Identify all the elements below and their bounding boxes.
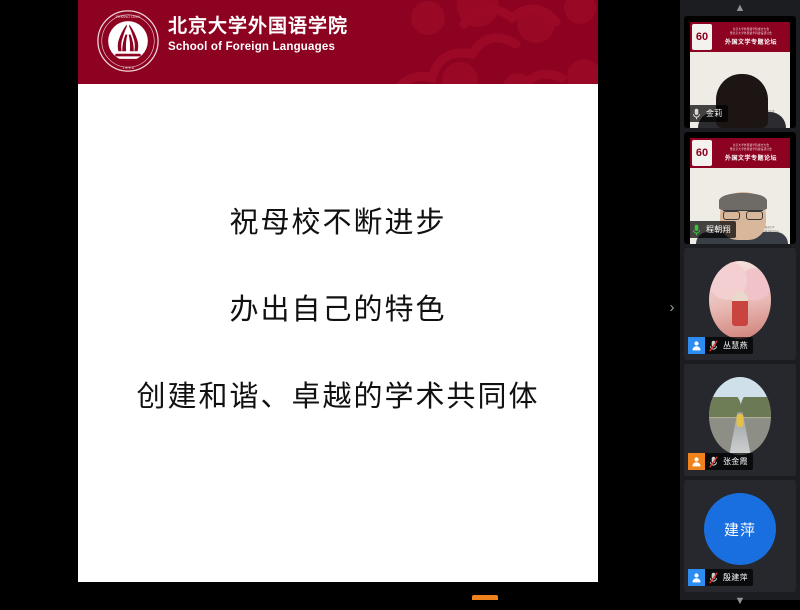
anniversary-logo-icon: 60 — [692, 140, 712, 166]
participant-tiles: 60 北京大学外国语学院成立大会 暨北京大学外国语学科建设研讨会 外国文学专题论… — [680, 16, 800, 592]
participant-name: 程朝翔 — [704, 224, 731, 235]
scroll-down-icon[interactable]: ▼ — [680, 592, 800, 610]
anniversary-logo-icon: 60 — [692, 24, 712, 50]
avatar — [709, 377, 771, 455]
slide-header-banner: PEKING UNIV 1 8 9 8 北京大学外国语学院 School of … — [78, 0, 598, 84]
slide-header-text: 北京大学外国语学院 School of Foreign Languages — [168, 16, 348, 53]
avatar-photo-road — [709, 377, 771, 455]
slide-body: 祝母校不断进步 办出自己的特色 创建和谐、卓越的学术共同体 — [78, 84, 598, 582]
mic-muted-icon — [705, 569, 721, 586]
avatar — [709, 261, 771, 339]
conference-banner: 60 北京大学外国语学院成立大会 暨北京大学外国语学科建设研讨会 外国文学专题论… — [690, 22, 790, 52]
banner-subtitle-2: 暨北京大学外国语学科建设研讨会 — [712, 148, 790, 152]
participant-badge: 殷建萍 — [688, 569, 753, 586]
scroll-up-icon[interactable]: ▲ — [680, 0, 800, 16]
shared-screen-stage[interactable]: PEKING UNIV 1 8 9 8 北京大学外国语学院 School of … — [0, 0, 680, 600]
speaker-hair — [719, 193, 767, 210]
avatar-photo-portrait — [709, 261, 771, 339]
banner-title: 外国文学专题论坛 — [712, 37, 790, 46]
mic-muted-icon — [705, 453, 721, 470]
svg-text:PEKING UNIV: PEKING UNIV — [116, 15, 141, 19]
participant-name: 殷建萍 — [721, 572, 748, 583]
participant-tile[interactable]: 建萍 殷建萍 — [684, 480, 796, 592]
person-icon — [688, 453, 705, 470]
participant-tile[interactable]: 张金霞 — [684, 364, 796, 476]
conference-banner: 60 北京大学外国语学院成立大会 暨北京大学外国语学科建设研讨会 外国文学专题论… — [690, 138, 790, 168]
slide-line-1: 祝母校不断进步 — [229, 208, 446, 237]
org-name-cn: 北京大学外国语学院 — [168, 16, 348, 38]
slide-line-3: 创建和谐、卓越的学术共同体 — [136, 382, 539, 411]
participant-name: 张金霞 — [721, 456, 748, 467]
conference-banner-text: 北京大学外国语学院成立大会 暨北京大学外国语学科建设研讨会 外国文学专题论坛 — [712, 144, 790, 162]
presentation-slide: PEKING UNIV 1 8 9 8 北京大学外国语学院 School of … — [78, 0, 598, 582]
person-icon — [688, 337, 705, 354]
hidden-toolbar-tab[interactable] — [472, 595, 498, 600]
mic-unmuted-icon — [688, 105, 704, 122]
speaker-glasses — [723, 210, 763, 218]
participant-tile[interactable]: 60 北京大学外国语学院成立大会 暨北京大学外国语学科建设研讨会 外国文学专题论… — [684, 16, 796, 128]
participant-tile[interactable]: 丛慧燕 — [684, 248, 796, 360]
slide-line-2: 办出自己的特色 — [229, 295, 446, 324]
mic-speaking-icon — [688, 221, 704, 238]
cloud-pattern-decoration — [368, 0, 598, 84]
participant-name: 金莉 — [704, 108, 723, 119]
conference-banner-text: 北京大学外国语学院成立大会 暨北京大学外国语学科建设研讨会 外国文学专题论坛 — [712, 28, 790, 46]
participant-badge: 丛慧燕 — [688, 337, 753, 354]
org-name-en: School of Foreign Languages — [168, 41, 348, 53]
mic-muted-icon — [705, 337, 721, 354]
peking-university-seal-icon: PEKING UNIV 1 8 9 8 — [96, 8, 160, 74]
banner-title: 外国文学专题论坛 — [712, 153, 790, 162]
person-icon — [688, 569, 705, 586]
banner-subtitle-2: 暨北京大学外国语学科建设研讨会 — [712, 32, 790, 36]
participant-badge: 程朝翔 — [688, 221, 736, 238]
svg-text:1 8 9 8: 1 8 9 8 — [122, 66, 134, 70]
participant-badge: 金莉 — [688, 105, 728, 122]
participant-tile[interactable]: 60 北京大学外国语学院成立大会 暨北京大学外国语学科建设研讨会 外国文学专题论… — [684, 132, 796, 244]
participant-badge: 张金霞 — [688, 453, 753, 470]
participant-filmstrip[interactable]: ▲ 60 北京大学外国语学院成立大会 暨北京大学外国语学科建设研讨会 外国文学专… — [680, 0, 800, 600]
meeting-screen: PEKING UNIV 1 8 9 8 北京大学外国语学院 School of … — [0, 0, 800, 600]
avatar-initials: 建萍 — [704, 493, 776, 565]
participant-name: 丛慧燕 — [721, 340, 748, 351]
collapse-filmstrip-handle[interactable]: › — [664, 288, 680, 326]
